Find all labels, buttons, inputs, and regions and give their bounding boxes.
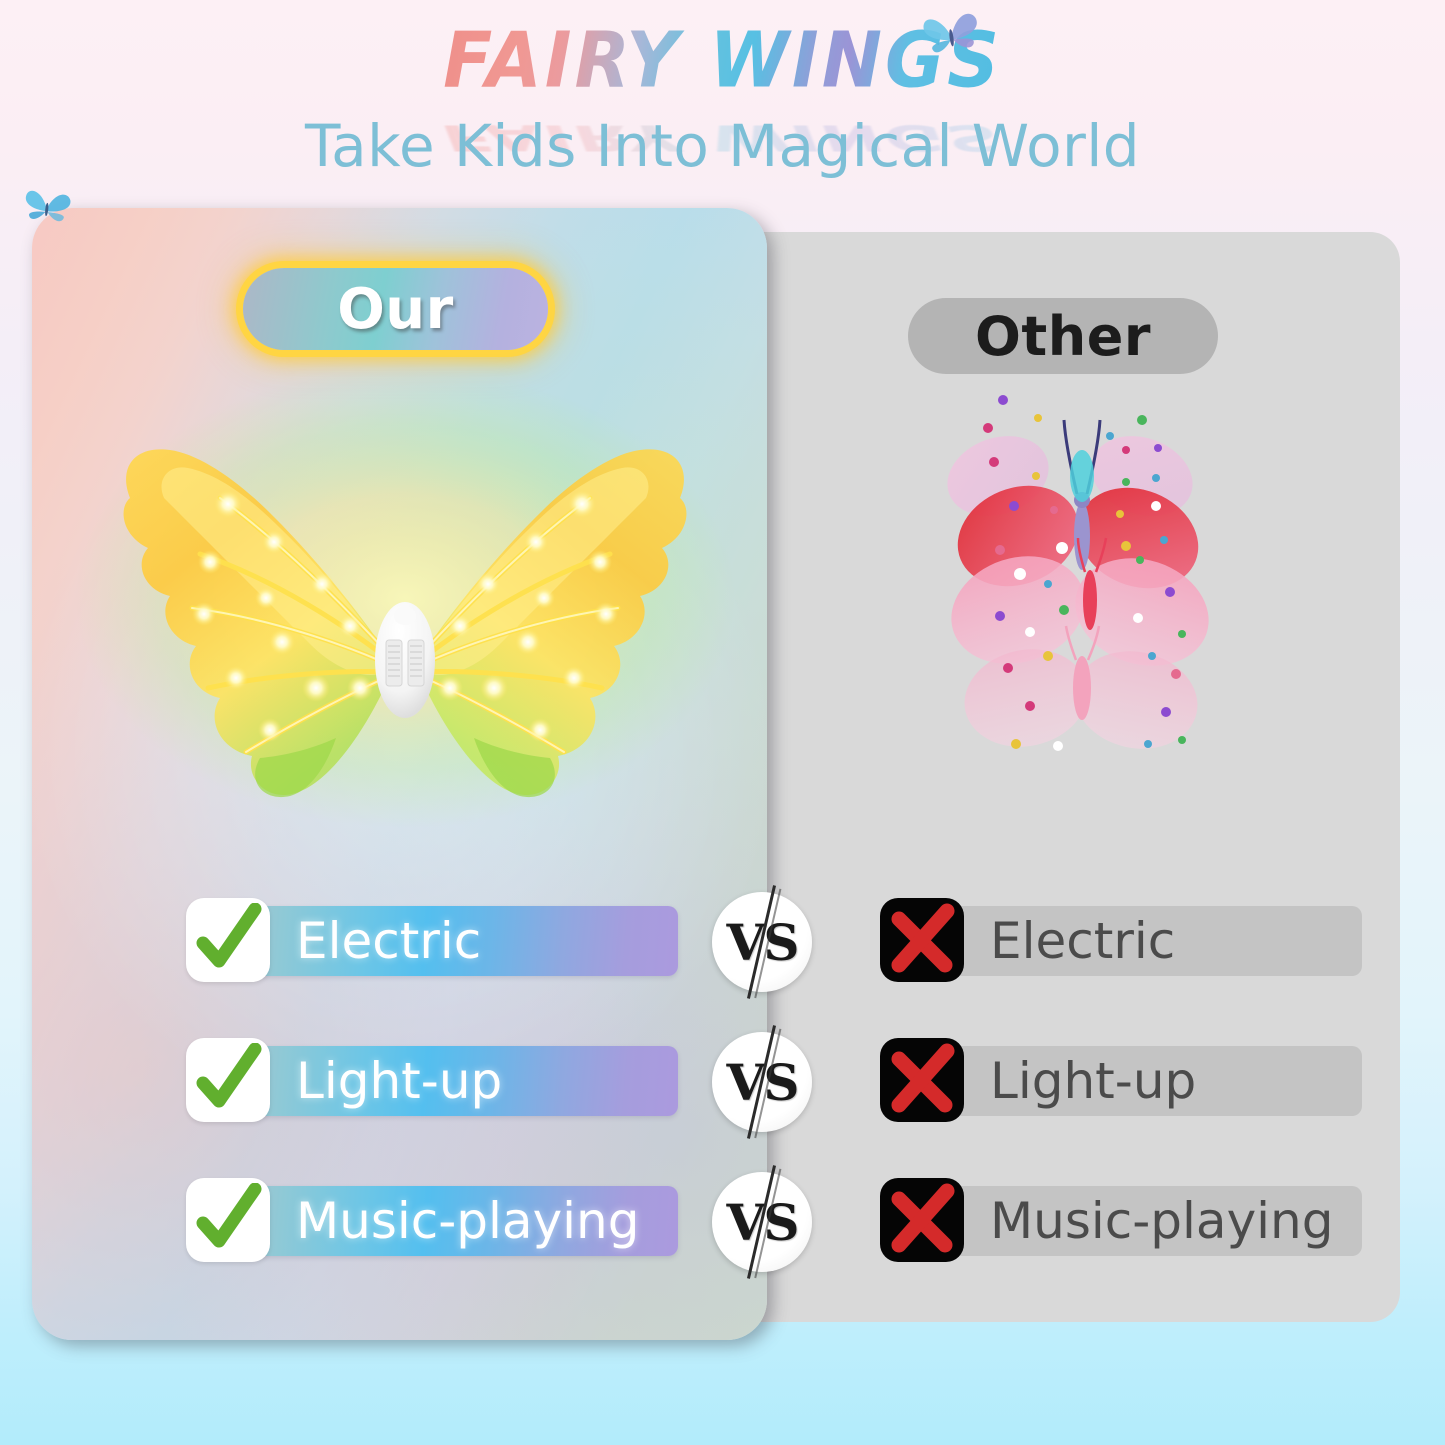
product-image-light-up-fairy-wings (60, 358, 750, 828)
feature-pill: Light-up (228, 1046, 678, 1116)
feature-label: Light-up (228, 1052, 528, 1110)
feature-pill: Electric (228, 906, 678, 976)
feature-pill: Music-playing (922, 1186, 1362, 1256)
check-icon (186, 1178, 270, 1262)
vs-badge: VS (712, 1032, 812, 1132)
check-icon (186, 1038, 270, 1122)
product-image-plain-mesh-butterfly-wings (930, 388, 1240, 788)
cross-icon (880, 898, 964, 982)
badge-our: Our (243, 268, 548, 350)
feature-row[interactable]: Light-up (186, 1032, 656, 1128)
feature-pill: Electric (922, 906, 1362, 976)
feature-pill: Light-up (922, 1046, 1362, 1116)
feature-label: Music-playing (922, 1192, 1359, 1250)
control-module (375, 602, 435, 718)
feature-pill: Music-playing (228, 1186, 678, 1256)
badge-other-label: Other (975, 305, 1151, 368)
vs-badge: VS (712, 892, 812, 992)
cross-icon (880, 1038, 964, 1122)
feature-row[interactable]: Light-up (880, 1032, 1340, 1128)
feature-row[interactable]: Music-playing (186, 1172, 656, 1268)
feature-row[interactable]: Electric (186, 892, 656, 988)
check-icon (186, 898, 270, 982)
feature-label: Music-playing (228, 1192, 665, 1250)
comparison-panels: Our Other (0, 0, 1445, 1445)
badge-our-label: Our (337, 277, 454, 342)
vs-badge: VS (712, 1172, 812, 1272)
vs-badge-column: VS VS VS (712, 892, 812, 1312)
badge-other: Other (908, 298, 1218, 374)
feature-row[interactable]: Music-playing (880, 1172, 1340, 1268)
feature-list-other: Electric Light-up Music-pl (880, 892, 1340, 1312)
feature-label: Light-up (922, 1052, 1222, 1110)
cross-icon (880, 1178, 964, 1262)
feature-list-our: Electric Light-up Music-playing (186, 892, 656, 1312)
corner-butterfly-icon (20, 184, 74, 231)
feature-row[interactable]: Electric (880, 892, 1340, 988)
